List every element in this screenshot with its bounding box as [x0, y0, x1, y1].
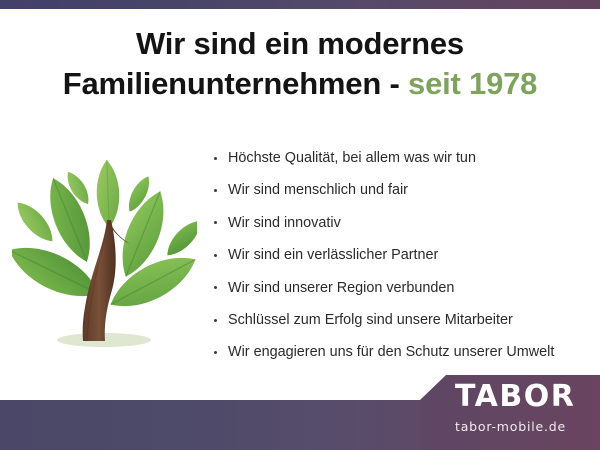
list-item: Wir sind ein verlässlicher Partner: [212, 239, 600, 271]
list-item: Wir engagieren uns für den Schutz unsere…: [212, 336, 600, 368]
headline-accent-year: seit 1978: [408, 66, 537, 101]
headline-line-2-main: Familienunternehmen -: [63, 66, 408, 101]
tree-illustration-icon: [12, 142, 197, 362]
headline-line-1: Wir sind ein modernes: [0, 24, 600, 64]
top-accent-bar: [0, 0, 600, 9]
list-item: Wir sind innovativ: [212, 207, 600, 239]
page-title: Wir sind ein modernes Familienunternehme…: [0, 24, 600, 104]
list-item: Schlüssel zum Erfolg sind unsere Mitarbe…: [212, 304, 600, 336]
slide-canvas: Wir sind ein modernes Familienunternehme…: [0, 0, 600, 450]
list-item: Höchste Qualität, bei allem was wir tun: [212, 142, 600, 174]
brand-logo-wordmark: TABOR: [455, 381, 600, 413]
headline-line-2: Familienunternehmen - seit 1978: [0, 64, 600, 104]
list-item: Wir sind unserer Region verbunden: [212, 272, 600, 304]
benefits-list: Höchste Qualität, bei allem was wir tun …: [212, 142, 600, 369]
brand-domain-label: tabor-mobile.de: [455, 420, 600, 434]
list-item: Wir sind menschlich und fair: [212, 174, 600, 206]
